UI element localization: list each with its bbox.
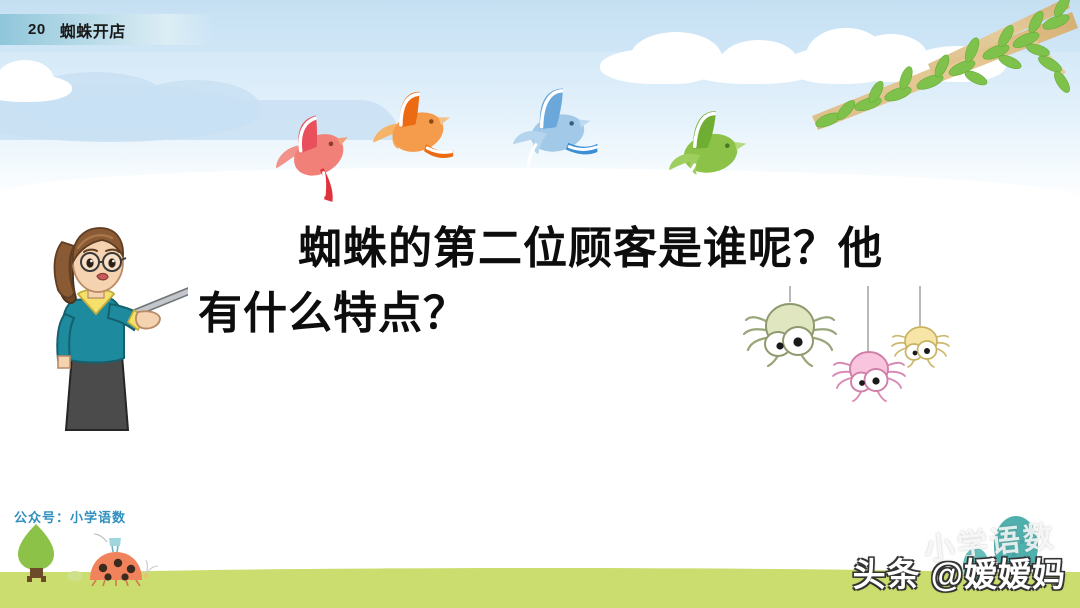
ladybug-illustration [90,534,158,586]
question-line-1: 蜘蛛的第二位顾客是谁呢？他 [198,216,998,281]
bottom-right-scene [910,506,1070,586]
bird-red [256,96,366,211]
header-bar: 20 蜘蛛开店 [0,14,260,45]
bottom-left-scene [8,518,208,586]
slide-canvas: 20 蜘蛛开店 [0,0,1080,608]
bush-large [994,516,1038,576]
teacher-illustration [18,218,188,440]
bird-orange [356,72,466,187]
small-bush [67,571,83,581]
bush-small [963,548,989,584]
cloud-group-left-corner [0,56,90,102]
spider-yellow [892,327,949,367]
tree-branch [810,0,1080,134]
spider-pink [833,352,905,401]
tree-illustration [18,524,54,582]
spider-green [744,304,836,366]
lesson-number: 20 [28,21,46,38]
hanging-spiders-group [740,286,965,411]
bird-blue [498,72,608,187]
lesson-title: 蜘蛛开店 [60,18,126,42]
bird-green [652,96,762,211]
